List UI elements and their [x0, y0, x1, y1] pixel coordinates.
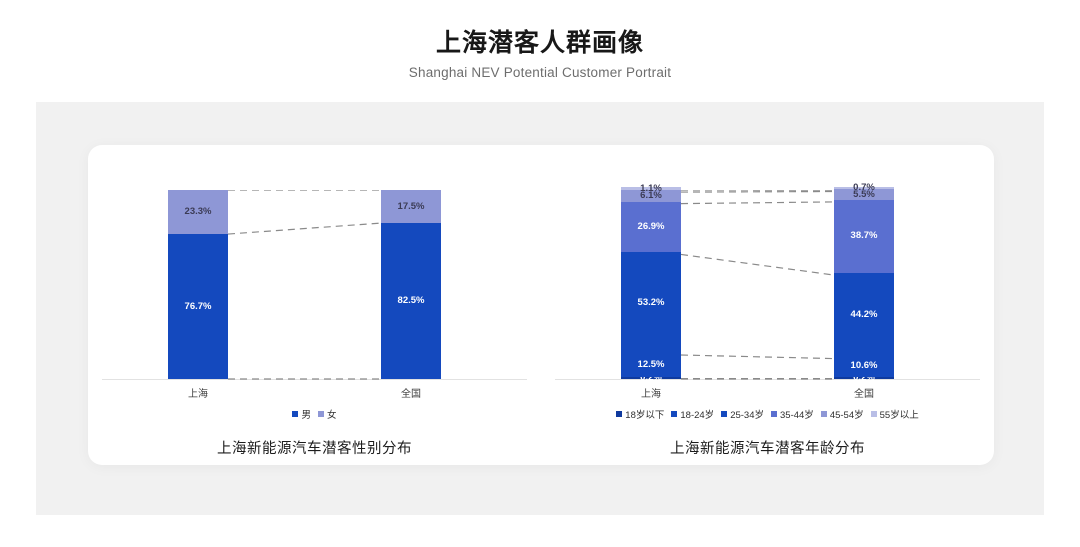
gender-legend: 男女: [88, 407, 541, 421]
x-tick-shanghai: 上海: [606, 385, 696, 400]
legend-swatch-icon: [821, 411, 827, 417]
legend-label: 35-44岁: [780, 407, 814, 421]
legend-swatch-icon: [721, 411, 727, 417]
bar-national[interactable]: 0.2%10.6%44.2%38.7%5.5%0.7%: [834, 187, 894, 379]
legend-item[interactable]: 45-54岁: [821, 407, 864, 421]
legend-swatch-icon: [771, 411, 777, 417]
legend-label: 55岁以上: [880, 407, 919, 421]
age-legend: 18岁以下18-24岁25-34岁35-44岁45-54岁55岁以上: [541, 407, 994, 421]
legend-item[interactable]: 25-34岁: [721, 407, 764, 421]
legend-swatch-icon: [671, 411, 677, 417]
gender-plot-area: 76.7%23.3% 82.5%17.5%: [88, 190, 541, 380]
gender-connector-lines: [88, 190, 541, 380]
segment-value-label: 0.7%: [853, 183, 875, 193]
gender-x-tick-labels: 上海 全国: [88, 385, 541, 401]
age-chart: 0.2%12.5%53.2%26.9%6.1%1.1% 0.2%10.6%44.…: [541, 145, 994, 465]
legend-item[interactable]: 18-24岁: [671, 407, 714, 421]
legend-item[interactable]: 35-44岁: [771, 407, 814, 421]
bar-segment[interactable]: 0.2%: [834, 377, 894, 380]
bar-segment[interactable]: 17.5%: [381, 190, 441, 223]
bar-segment[interactable]: 1.1%: [621, 187, 681, 190]
x-axis-line: [555, 379, 980, 380]
legend-swatch-icon: [616, 411, 622, 417]
age-connector-lines: [541, 190, 994, 380]
segment-value-label: 53.2%: [638, 298, 665, 308]
legend-label: 18-24岁: [680, 407, 714, 421]
legend-swatch-icon: [871, 411, 877, 417]
segment-value-label: 44.2%: [851, 310, 878, 320]
page-header: 上海潜客人群画像 Shanghai NEV Potential Customer…: [0, 0, 1080, 102]
bar-segment[interactable]: 53.2%: [621, 252, 681, 353]
segment-value-label: 23.3%: [185, 207, 212, 217]
segment-value-label: 1.1%: [640, 184, 662, 194]
segment-value-label: 38.7%: [851, 231, 878, 241]
legend-item[interactable]: 55岁以上: [871, 407, 919, 421]
legend-swatch-icon: [292, 411, 298, 417]
bar-national[interactable]: 82.5%17.5%: [381, 190, 441, 379]
legend-item[interactable]: 18岁以下: [616, 407, 664, 421]
bar-segment[interactable]: 44.2%: [834, 273, 894, 357]
segment-value-label: 76.7%: [185, 302, 212, 312]
bar-shanghai[interactable]: 76.7%23.3%: [168, 190, 228, 379]
x-axis-line: [102, 379, 527, 380]
page-title: 上海潜客人群画像: [436, 27, 644, 59]
legend-label: 18岁以下: [625, 407, 664, 421]
gender-chart: 76.7%23.3% 82.5%17.5% 上海 全国 男女 上海新能源汽车潜客…: [88, 145, 541, 465]
bar-segment[interactable]: 23.3%: [168, 190, 228, 234]
gender-chart-caption: 上海新能源汽车潜客性别分布: [88, 437, 541, 458]
segment-value-label: 12.5%: [638, 360, 665, 370]
segment-value-label: 82.5%: [398, 296, 425, 306]
bar-shanghai[interactable]: 0.2%12.5%53.2%26.9%6.1%1.1%: [621, 187, 681, 379]
legend-label: 男: [301, 407, 311, 421]
legend-item[interactable]: 男: [292, 407, 311, 421]
bar-segment[interactable]: 76.7%: [168, 234, 228, 379]
bar-segment[interactable]: 12.5%: [621, 353, 681, 377]
legend-swatch-icon: [318, 411, 324, 417]
x-tick-shanghai: 上海: [153, 385, 243, 400]
legend-label: 45-54岁: [830, 407, 864, 421]
legend-label: 25-34岁: [730, 407, 764, 421]
page-subtitle: Shanghai NEV Potential Customer Portrait: [409, 64, 671, 82]
bar-segment[interactable]: 0.7%: [834, 187, 894, 190]
segment-value-label: 10.6%: [851, 361, 878, 371]
legend-item[interactable]: 女: [318, 407, 337, 421]
age-chart-caption: 上海新能源汽车潜客年龄分布: [541, 437, 994, 458]
x-tick-national: 全国: [819, 385, 909, 400]
bar-segment[interactable]: 26.9%: [621, 202, 681, 253]
bar-segment[interactable]: 0.2%: [621, 377, 681, 380]
legend-label: 女: [327, 407, 337, 421]
x-tick-national: 全国: [366, 385, 456, 400]
bar-segment[interactable]: 82.5%: [381, 223, 441, 379]
segment-value-label: 17.5%: [398, 202, 425, 212]
bar-segment[interactable]: 38.7%: [834, 200, 894, 273]
segment-value-label: 26.9%: [638, 222, 665, 232]
charts-row: 76.7%23.3% 82.5%17.5% 上海 全国 男女 上海新能源汽车潜客…: [88, 145, 994, 465]
age-x-tick-labels: 上海 全国: [541, 385, 994, 401]
age-plot-area: 0.2%12.5%53.2%26.9%6.1%1.1% 0.2%10.6%44.…: [541, 190, 994, 380]
bar-segment[interactable]: 10.6%: [834, 356, 894, 376]
slide-page: 上海潜客人群画像 Shanghai NEV Potential Customer…: [0, 0, 1080, 547]
